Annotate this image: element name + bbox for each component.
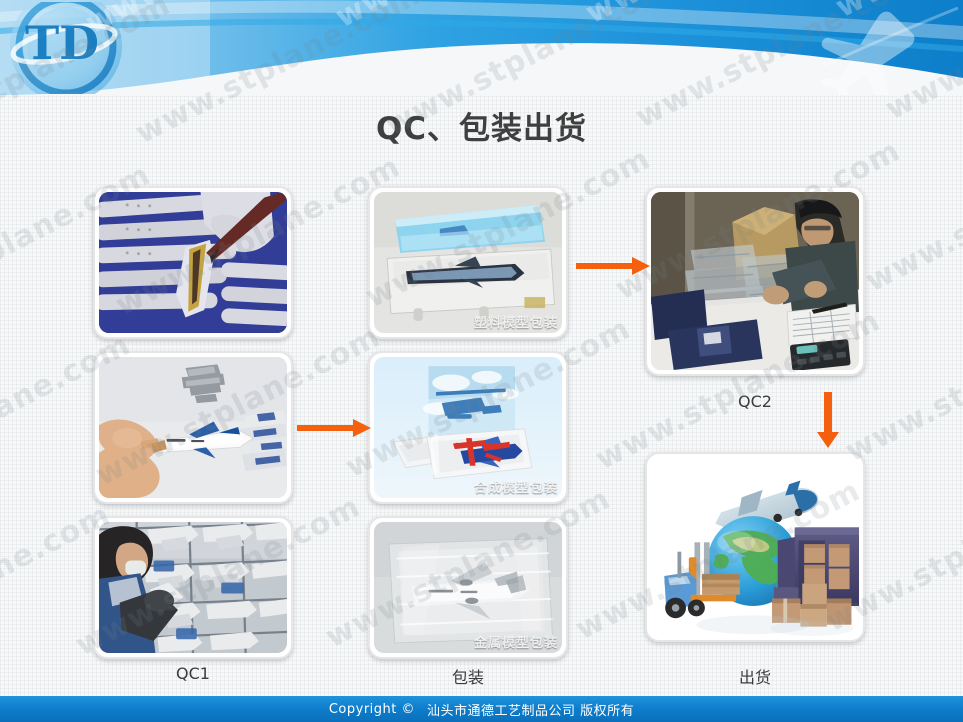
- photo-shipping-logistics-image: [651, 458, 859, 636]
- brand-logo[interactable]: TD: [8, 2, 136, 94]
- slide-canvas: TD QC、包装出货: [0, 0, 963, 722]
- photo-overlay-caption: 合成模型包装: [474, 477, 558, 496]
- photo-production-line-worker-image: [99, 522, 287, 653]
- footer-copyright-symbol: Copyright ©: [329, 702, 415, 717]
- footer-company: 汕头市通德工艺制品公司 版权所有: [427, 700, 634, 719]
- photo-plastic-model-packing[interactable]: 塑料模型包装: [368, 186, 568, 339]
- photo-overlay-caption: 金属模型包装: [474, 632, 558, 651]
- photo-shipping-logistics[interactable]: [645, 452, 865, 642]
- watermark-text: www.stplane.com: [860, 125, 963, 299]
- caption-packing: 包装: [368, 664, 568, 688]
- arrow-qc1-to-packing: [297, 415, 373, 441]
- page-title: QC、包装出货: [0, 103, 963, 148]
- photo-composite-model-packing[interactable]: 合成模型包装: [368, 351, 568, 504]
- photo-paint-touchup[interactable]: [93, 186, 293, 339]
- photo-metal-model-packing[interactable]: 金属模型包装: [368, 516, 568, 659]
- arrow-packing-to-qc2: [576, 253, 652, 279]
- logo-text: TD: [25, 16, 99, 70]
- photo-production-line-worker[interactable]: [93, 516, 293, 659]
- photo-assembly-hands-image: [99, 357, 287, 498]
- photo-overlay-caption: 塑料模型包装: [474, 312, 558, 331]
- caption-shipping: 出货: [645, 664, 865, 688]
- footer-bar: Copyright © 汕头市通德工艺制品公司 版权所有: [0, 696, 963, 722]
- photo-assembly-hands[interactable]: [93, 351, 293, 504]
- photo-qc-inspection-desk[interactable]: [645, 186, 865, 376]
- caption-qc2: QC2: [645, 392, 865, 411]
- header-banner: [0, 0, 963, 95]
- caption-qc1: QC1: [93, 664, 293, 683]
- photo-paint-touchup-image: [99, 192, 287, 333]
- photo-qc-inspection-desk-image: [651, 192, 859, 370]
